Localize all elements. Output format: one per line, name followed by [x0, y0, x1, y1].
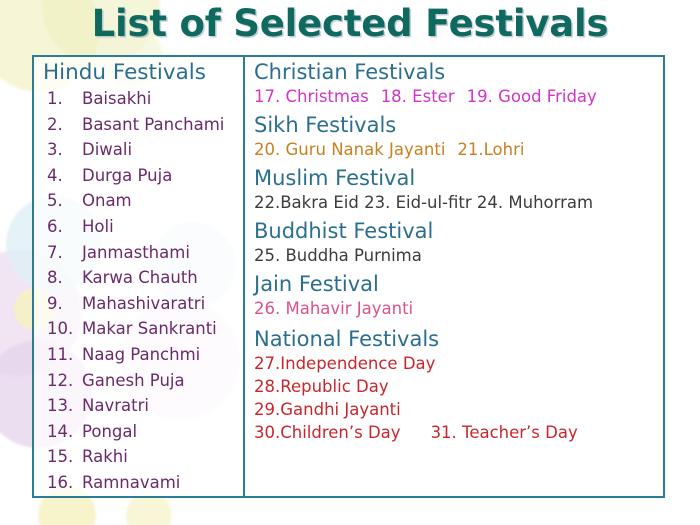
list-item-number: 14.	[42, 419, 82, 445]
muslim-festivals-row: 22.Bakra Eid 23. Eid-ul-fitr 24. Muhorra…	[254, 191, 663, 215]
list-item: 1.Baisakhi	[42, 86, 243, 112]
list-item-label: Rakhi	[82, 444, 128, 470]
list-item: 2.Basant Panchami	[42, 112, 243, 138]
festival-entry: 21.Lohri	[457, 140, 524, 159]
list-item-label: Makar Sankranti	[82, 316, 217, 342]
list-item-label: Ramnavami	[82, 470, 180, 496]
hindu-festivals-list: 1.Baisakhi 2.Basant Panchami 3.Diwali 4.…	[42, 86, 243, 496]
list-item-number: 6.	[42, 214, 82, 240]
national-festivals-row: 30.Children’s Day31. Teacher’s Day	[254, 421, 663, 444]
list-item-label: Holi	[82, 214, 114, 240]
hindu-festivals-column: Hindu Festivals 1.Baisakhi 2.Basant Panc…	[34, 57, 245, 496]
list-item: 11.Naag Panchmi	[42, 342, 243, 368]
list-item: 16.Ramnavami	[42, 470, 243, 496]
heading-muslim-festival: Muslim Festival	[254, 165, 663, 191]
list-item: 14.Pongal	[42, 419, 243, 445]
heading-national-festivals: National Festivals	[254, 326, 663, 352]
list-item: 12.Ganesh Puja	[42, 368, 243, 394]
buddhist-festivals-row: 25. Buddha Purnima	[254, 244, 663, 268]
festival-entry: 18. Ester	[381, 87, 455, 106]
list-item-label: Baisakhi	[82, 86, 151, 112]
list-item-label: Janmasthami	[82, 240, 190, 266]
list-item-number: 11.	[42, 342, 82, 368]
list-item-label: Mahashivaratri	[82, 291, 205, 317]
festival-entry: 17. Christmas	[254, 87, 369, 106]
list-item-number: 1.	[42, 86, 82, 112]
list-item-label: Basant Panchami	[82, 112, 224, 138]
list-item: 7.Janmasthami	[42, 240, 243, 266]
festival-entry: 20. Guru Nanak Jayanti	[254, 140, 445, 159]
other-festivals-column: Christian Festivals 17. Christmas18. Est…	[245, 57, 663, 496]
heading-sikh-festivals: Sikh Festivals	[254, 112, 663, 138]
list-item-number: 9.	[42, 291, 82, 317]
heading-buddhist-festival: Buddhist Festival	[254, 218, 663, 244]
list-item: 6.Holi	[42, 214, 243, 240]
heading-hindu-festivals: Hindu Festivals	[42, 59, 243, 86]
festival-entry: 19. Good Friday	[467, 87, 597, 106]
national-festivals-row: 29.Gandhi Jayanti	[254, 398, 663, 421]
list-item-label: Ganesh Puja	[82, 368, 185, 394]
list-item: 8.Karwa Chauth	[42, 265, 243, 291]
list-item-number: 3.	[42, 137, 82, 163]
list-item-label: Navratri	[82, 393, 149, 419]
list-item: 10.Makar Sankranti	[42, 316, 243, 342]
national-festivals-row: 27.Independence Day	[254, 352, 663, 375]
list-item: 9.Mahashivaratri	[42, 291, 243, 317]
list-item-label: Diwali	[82, 137, 132, 163]
festivals-table: Hindu Festivals 1.Baisakhi 2.Basant Panc…	[32, 55, 665, 498]
festival-entry: 31. Teacher’s Day	[431, 423, 578, 442]
list-item-number: 8.	[42, 265, 82, 291]
heading-jain-festival: Jain Festival	[254, 271, 663, 297]
list-item: 5.Onam	[42, 188, 243, 214]
list-item: 3.Diwali	[42, 137, 243, 163]
list-item-label: Karwa Chauth	[82, 265, 198, 291]
list-item-number: 13.	[42, 393, 82, 419]
list-item-number: 12.	[42, 368, 82, 394]
jain-festivals-row: 26. Mahavir Jayanti	[254, 297, 663, 321]
list-item: 15.Rakhi	[42, 444, 243, 470]
page-title: List of Selected Festivals	[0, 2, 700, 45]
national-festivals-row: 28.Republic Day	[254, 375, 663, 398]
list-item-number: 10.	[42, 316, 82, 342]
list-item-number: 7.	[42, 240, 82, 266]
list-item-label: Naag Panchmi	[82, 342, 200, 368]
list-item: 13.Navratri	[42, 393, 243, 419]
list-item-number: 4.	[42, 163, 82, 189]
christian-festivals-row: 17. Christmas18. Ester19. Good Friday	[254, 85, 663, 109]
list-item-label: Durga Puja	[82, 163, 172, 189]
sikh-festivals-row: 20. Guru Nanak Jayanti21.Lohri	[254, 138, 663, 162]
list-item-label: Onam	[82, 188, 132, 214]
list-item-number: 2.	[42, 112, 82, 138]
list-item-number: 5.	[42, 188, 82, 214]
heading-christian-festivals: Christian Festivals	[254, 59, 663, 85]
list-item-number: 15.	[42, 444, 82, 470]
list-item-number: 16.	[42, 470, 82, 496]
list-item: 4.Durga Puja	[42, 163, 243, 189]
list-item-label: Pongal	[82, 419, 137, 445]
festival-entry: 30.Children’s Day	[254, 423, 401, 442]
